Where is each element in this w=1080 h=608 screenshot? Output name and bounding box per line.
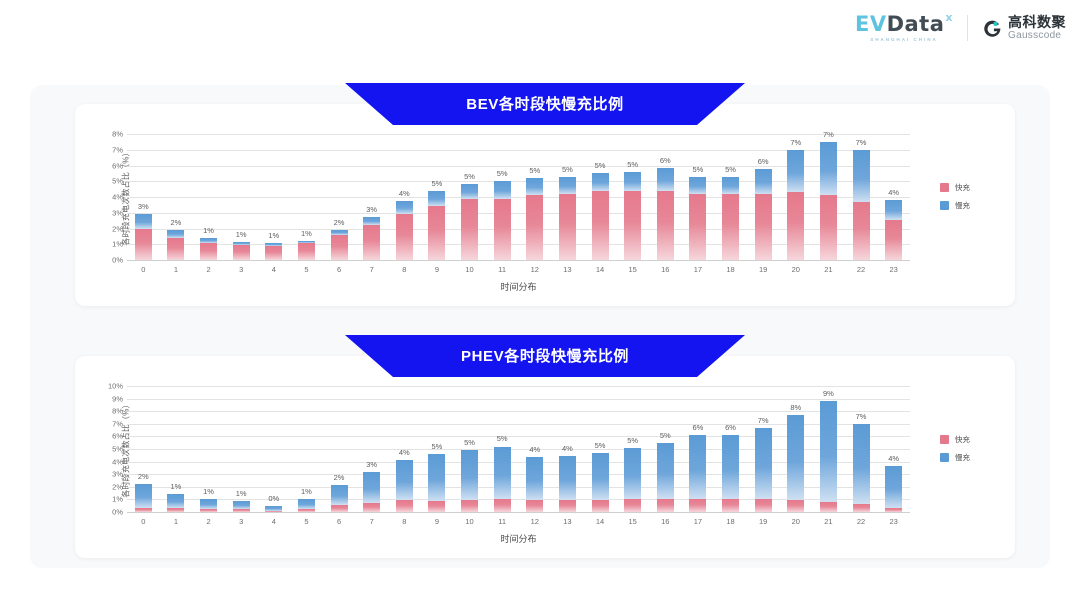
bar-segment-slow-charge [135, 214, 152, 229]
stacked-bar[interactable] [298, 499, 315, 512]
bar-segment-fast-charge [167, 508, 184, 512]
x-tick-label: 0 [127, 517, 160, 526]
bar-segment-slow-charge [657, 443, 674, 498]
x-tick-label: 14 [584, 265, 617, 274]
bar-segment-slow-charge [298, 499, 315, 508]
bar-segment-fast-charge [624, 499, 641, 512]
x-tick-label: 4 [258, 517, 291, 526]
bar-slot[interactable]: 1% [258, 134, 291, 260]
bar-value-label: 6% [660, 156, 671, 165]
y-tick-label: 10% [108, 382, 123, 390]
x-tick-label: 23 [877, 517, 910, 526]
bar-segment-fast-charge [396, 214, 413, 260]
x-axis-ticks: 01234567891011121314151617181920212223 [127, 265, 910, 274]
gausscode-cn-name: 高科数聚 [1008, 15, 1066, 29]
plot-area-phev: 各时段充电次数占比（%）0%1%2%3%4%5%6%7%8%9%10%2%1%1… [75, 356, 1015, 558]
legend-item[interactable]: 慢充 [940, 200, 970, 211]
bar-slot[interactable]: 5% [649, 386, 682, 512]
bar-value-label: 0% [268, 494, 279, 503]
bar-value-label: 5% [725, 165, 736, 174]
chart-legend: 快充慢充 [940, 182, 970, 211]
bar-segment-fast-charge [526, 195, 543, 260]
legend-color-swatch [940, 183, 949, 192]
bar-slot[interactable]: 5% [421, 134, 454, 260]
bar-segment-slow-charge [461, 450, 478, 500]
bar-value-label: 3% [366, 460, 377, 469]
bar-value-label: 1% [171, 482, 182, 491]
bar-segment-fast-charge [853, 202, 870, 260]
bar-value-label: 1% [301, 487, 312, 496]
x-axis-title: 时间分布 [127, 532, 910, 545]
stacked-bar[interactable] [461, 184, 478, 260]
bar-slot[interactable]: 6% [747, 134, 780, 260]
bar-slot[interactable]: 7% [812, 134, 845, 260]
stacked-bar[interactable] [559, 456, 576, 512]
stacked-bar[interactable] [592, 453, 609, 512]
bar-segment-fast-charge [494, 499, 511, 512]
x-axis-ticks: 01234567891011121314151617181920212223 [127, 517, 910, 526]
bar-segment-slow-charge [233, 501, 250, 509]
x-tick-label: 4 [258, 265, 291, 274]
bar-segment-fast-charge [331, 235, 348, 260]
stacked-bar[interactable] [885, 466, 902, 512]
bar-slot[interactable]: 5% [714, 134, 747, 260]
bar-segment-fast-charge [689, 499, 706, 512]
bar-segment-fast-charge [331, 505, 348, 512]
bar-segment-slow-charge [820, 401, 837, 502]
x-tick-label: 11 [486, 265, 519, 274]
x-tick-label: 16 [649, 517, 682, 526]
bar-segment-slow-charge [135, 484, 152, 507]
y-tick-label: 4% [112, 193, 123, 201]
logo-divider [967, 15, 968, 41]
bar-segment-fast-charge [722, 499, 739, 512]
bar-segment-fast-charge [363, 503, 380, 512]
x-tick-label: 1 [160, 517, 193, 526]
legend-label: 快充 [955, 434, 970, 445]
bar-slot[interactable]: 1% [225, 134, 258, 260]
y-tick-label: 1% [112, 241, 123, 249]
legend-label: 快充 [955, 182, 970, 193]
y-tick-label: 2% [112, 483, 123, 491]
x-tick-label: 7 [355, 265, 388, 274]
stacked-bar[interactable] [167, 494, 184, 512]
x-tick-label: 5 [290, 265, 323, 274]
x-tick-label: 20 [780, 265, 813, 274]
bar-slot[interactable]: 6% [714, 386, 747, 512]
bar-segment-slow-charge [624, 448, 641, 498]
bar-slot[interactable]: 2% [323, 134, 356, 260]
plot-area-bev: 各时段充电次数占比（%）0%1%2%3%4%5%6%7%8%3%2%1%1%1%… [75, 104, 1015, 306]
bar-slot[interactable]: 6% [682, 386, 715, 512]
bar-slot[interactable]: 5% [453, 386, 486, 512]
stacked-bar[interactable] [461, 450, 478, 512]
legend-item[interactable]: 快充 [940, 434, 970, 445]
bar-segment-slow-charge [363, 217, 380, 225]
bar-segment-fast-charge [787, 192, 804, 260]
x-tick-label: 10 [453, 517, 486, 526]
bar-slot[interactable]: 5% [486, 134, 519, 260]
bar-slot[interactable]: 5% [616, 134, 649, 260]
bar-segment-fast-charge [787, 500, 804, 512]
bar-value-label: 5% [595, 441, 606, 450]
content-panel: 各时段充电次数占比（%）0%1%2%3%4%5%6%7%8%3%2%1%1%1%… [30, 85, 1050, 568]
evdata-wordmark: EVDatax [855, 14, 953, 35]
stacked-bar[interactable] [396, 460, 413, 512]
bar-slot[interactable]: 5% [421, 386, 454, 512]
bar-segment-slow-charge [428, 454, 445, 501]
bar-segment-slow-charge [526, 178, 543, 195]
stacked-bar[interactable] [657, 168, 674, 260]
chart-title-ribbon-bev: BEV各时段快慢充比例 [345, 83, 745, 125]
legend-item[interactable]: 慢充 [940, 452, 970, 463]
bar-value-label: 2% [138, 472, 149, 481]
bar-slot[interactable]: 1% [290, 386, 323, 512]
bar-value-label: 5% [432, 179, 443, 188]
bar-segment-fast-charge [885, 508, 902, 512]
bar-slot[interactable]: 7% [845, 134, 878, 260]
stacked-bar[interactable] [363, 217, 380, 260]
x-tick-label: 3 [225, 265, 258, 274]
bar-slot[interactable]: 1% [160, 386, 193, 512]
bar-segment-slow-charge [853, 424, 870, 504]
bar-slot[interactable]: 5% [453, 134, 486, 260]
bar-segment-fast-charge [233, 245, 250, 260]
bar-segment-fast-charge [722, 194, 739, 260]
stacked-bar[interactable] [787, 415, 804, 512]
stacked-bar[interactable] [559, 177, 576, 260]
bar-slot[interactable]: 2% [323, 386, 356, 512]
bar-segment-fast-charge [592, 191, 609, 260]
bar-segment-slow-charge [689, 435, 706, 499]
x-tick-label: 18 [714, 517, 747, 526]
stacked-bar[interactable] [755, 428, 772, 512]
y-tick-label: 8% [112, 130, 123, 138]
bar-segment-slow-charge [559, 177, 576, 194]
x-axis-title: 时间分布 [127, 280, 910, 293]
stacked-bar[interactable] [657, 443, 674, 512]
bar-value-label: 2% [171, 218, 182, 227]
bar-segment-slow-charge [494, 447, 511, 500]
y-tick-label: 8% [112, 407, 123, 415]
bar-segment-slow-charge [526, 457, 543, 500]
bar-slot[interactable]: 3% [355, 134, 388, 260]
bar-slot[interactable]: 1% [192, 134, 225, 260]
legend-color-swatch [940, 435, 949, 444]
bar-value-label: 4% [399, 189, 410, 198]
stacked-bar[interactable] [135, 214, 152, 260]
bar-value-label: 5% [464, 438, 475, 447]
stacked-bar[interactable] [755, 169, 772, 260]
bar-value-label: 5% [529, 166, 540, 175]
bar-slot[interactable]: 1% [225, 386, 258, 512]
bar-slot[interactable]: 4% [388, 134, 421, 260]
bar-value-label: 5% [693, 165, 704, 174]
grid-line [127, 260, 910, 261]
x-tick-label: 19 [747, 517, 780, 526]
bar-value-label: 5% [464, 172, 475, 181]
bar-segment-slow-charge [820, 142, 837, 196]
x-tick-label: 1 [160, 265, 193, 274]
bar-value-label: 5% [627, 160, 638, 169]
gausscode-logo: 高科数聚 Gausscode [982, 15, 1066, 41]
bar-value-label: 4% [562, 444, 573, 453]
stacked-bar[interactable] [494, 181, 511, 260]
bar-slot[interactable]: 9% [812, 386, 845, 512]
chart-card-phev: 各时段充电次数占比（%）0%1%2%3%4%5%6%7%8%9%10%2%1%1… [75, 356, 1015, 558]
x-tick-label: 13 [551, 517, 584, 526]
stacked-bar[interactable] [853, 150, 870, 260]
bar-segment-fast-charge [461, 199, 478, 260]
bar-slot[interactable]: 5% [584, 134, 617, 260]
x-tick-label: 21 [812, 265, 845, 274]
bar-slot[interactable]: 8% [780, 386, 813, 512]
chart-card-bev: 各时段充电次数占比（%）0%1%2%3%4%5%6%7%8%3%2%1%1%1%… [75, 104, 1015, 306]
y-axis-ticks: 0%1%2%3%4%5%6%7%8% [97, 134, 123, 260]
bar-value-label: 4% [888, 454, 899, 463]
bar-segment-slow-charge [885, 200, 902, 220]
y-tick-label: 2% [112, 225, 123, 233]
bar-segment-slow-charge [755, 428, 772, 500]
bar-group: 3%2%1%1%1%1%2%3%4%5%5%5%5%5%5%5%6%5%5%6%… [127, 134, 910, 260]
bar-segment-slow-charge [167, 230, 184, 238]
bar-segment-slow-charge [331, 485, 348, 505]
stacked-bar[interactable] [363, 472, 380, 512]
x-tick-label: 16 [649, 265, 682, 274]
bar-slot[interactable]: 4% [388, 386, 421, 512]
bar-slot[interactable]: 1% [290, 134, 323, 260]
stacked-bar[interactable] [592, 173, 609, 260]
bar-slot[interactable]: 3% [127, 134, 160, 260]
bar-segment-fast-charge [494, 199, 511, 260]
gausscode-en-name: Gausscode [1008, 31, 1066, 41]
stacked-bar[interactable] [722, 177, 739, 260]
x-tick-label: 6 [323, 517, 356, 526]
stacked-bar[interactable] [689, 435, 706, 512]
bar-segment-fast-charge [755, 499, 772, 512]
bar-value-label: 1% [268, 231, 279, 240]
legend-item[interactable]: 快充 [940, 182, 970, 193]
x-tick-label: 14 [584, 517, 617, 526]
bar-segment-fast-charge [363, 225, 380, 260]
x-tick-label: 2 [192, 517, 225, 526]
gausscode-mark-icon [982, 18, 1003, 39]
y-tick-label: 1% [112, 496, 123, 504]
bar-segment-fast-charge [559, 194, 576, 260]
x-tick-label: 17 [682, 517, 715, 526]
bar-segment-slow-charge [885, 466, 902, 508]
x-tick-label: 13 [551, 265, 584, 274]
x-tick-label: 3 [225, 517, 258, 526]
y-tick-label: 4% [112, 458, 123, 466]
bar-segment-fast-charge [200, 243, 217, 260]
bar-segment-fast-charge [461, 500, 478, 512]
bar-segment-fast-charge [265, 511, 282, 513]
x-tick-label: 8 [388, 265, 421, 274]
bar-value-label: 7% [790, 138, 801, 147]
bar-slot[interactable]: 7% [780, 134, 813, 260]
x-tick-label: 6 [323, 265, 356, 274]
evdata-data-text: Data [887, 14, 945, 35]
stacked-bar[interactable] [233, 242, 250, 260]
stacked-bar[interactable] [787, 150, 804, 260]
bar-slot[interactable]: 6% [649, 134, 682, 260]
bar-slot[interactable]: 4% [519, 386, 552, 512]
bar-segment-slow-charge [363, 472, 380, 503]
bar-segment-fast-charge [135, 508, 152, 512]
bar-slot[interactable]: 2% [127, 386, 160, 512]
chart-title-phev: PHEV各时段快慢充比例 [461, 345, 629, 368]
bar-value-label: 5% [497, 169, 508, 178]
chart-block-phev: 各时段充电次数占比（%）0%1%2%3%4%5%6%7%8%9%10%2%1%1… [75, 356, 1015, 558]
stacked-bar[interactable] [233, 501, 250, 512]
evdata-superscript-x: x [945, 12, 953, 23]
bar-segment-slow-charge [559, 456, 576, 500]
stacked-bar[interactable] [820, 142, 837, 260]
bar-slot[interactable]: 1% [192, 386, 225, 512]
x-tick-label: 9 [421, 265, 454, 274]
bar-slot[interactable]: 5% [616, 386, 649, 512]
x-tick-label: 22 [845, 517, 878, 526]
bar-slot[interactable]: 5% [486, 386, 519, 512]
stacked-bar[interactable] [689, 177, 706, 260]
x-tick-label: 12 [519, 265, 552, 274]
stacked-bar[interactable] [135, 484, 152, 512]
bar-segment-fast-charge [853, 504, 870, 512]
bar-segment-fast-charge [298, 243, 315, 260]
bar-segment-slow-charge [396, 460, 413, 500]
bar-slot[interactable]: 7% [845, 386, 878, 512]
bar-segment-slow-charge [722, 177, 739, 194]
y-tick-label: 6% [112, 433, 123, 441]
bar-group: 2%1%1%1%0%1%2%3%4%5%5%5%4%4%5%5%5%6%6%7%… [127, 386, 910, 512]
bar-slot[interactable]: 2% [160, 134, 193, 260]
x-tick-label: 10 [453, 265, 486, 274]
y-tick-label: 3% [112, 209, 123, 217]
y-tick-label: 7% [112, 420, 123, 428]
x-tick-label: 23 [877, 265, 910, 274]
bar-value-label: 7% [823, 130, 834, 139]
legend-color-swatch [940, 453, 949, 462]
bar-slot[interactable]: 5% [519, 134, 552, 260]
bar-segment-slow-charge [428, 191, 445, 205]
y-axis-ticks: 0%1%2%3%4%5%6%7%8%9%10% [97, 386, 123, 512]
bar-segment-fast-charge [298, 509, 315, 512]
bar-value-label: 9% [823, 389, 834, 398]
bar-value-label: 3% [366, 205, 377, 214]
header-logo-group: EVDatax SHANGHAI CHINA 高科数聚 Gausscode [855, 14, 1066, 42]
bar-segment-fast-charge [689, 194, 706, 260]
bar-slot[interactable]: 4% [877, 386, 910, 512]
stacked-bar[interactable] [885, 200, 902, 260]
y-tick-label: 0% [112, 256, 123, 264]
bar-slot[interactable]: 5% [551, 134, 584, 260]
stacked-bar[interactable] [853, 424, 870, 512]
bar-value-label: 5% [660, 431, 671, 440]
bar-slot[interactable]: 5% [584, 386, 617, 512]
bar-slot[interactable]: 0% [258, 386, 291, 512]
stacked-bar[interactable] [428, 454, 445, 512]
stacked-bar[interactable] [331, 230, 348, 260]
bar-segment-fast-charge [428, 206, 445, 260]
bar-value-label: 5% [562, 165, 573, 174]
bar-segment-slow-charge [657, 168, 674, 191]
stacked-bar[interactable] [265, 506, 282, 512]
bar-slot[interactable]: 4% [551, 386, 584, 512]
stacked-bar[interactable] [494, 446, 511, 512]
stacked-bar[interactable] [624, 448, 641, 512]
x-tick-label: 8 [388, 517, 421, 526]
legend-color-swatch [940, 201, 949, 210]
bar-segment-fast-charge [167, 238, 184, 260]
evdata-subtitle: SHANGHAI CHINA [870, 37, 938, 42]
legend-label: 慢充 [955, 200, 970, 211]
bar-segment-slow-charge [853, 150, 870, 202]
y-tick-label: 0% [112, 508, 123, 516]
bar-value-label: 8% [790, 403, 801, 412]
y-tick-label: 6% [112, 162, 123, 170]
bar-segment-fast-charge [592, 500, 609, 512]
bar-segment-fast-charge [265, 246, 282, 260]
legend-label: 慢充 [955, 452, 970, 463]
stacked-bar[interactable] [526, 178, 543, 260]
evdata-logo: EVDatax SHANGHAI CHINA [855, 14, 953, 42]
bar-segment-slow-charge [461, 184, 478, 200]
x-tick-label: 9 [421, 517, 454, 526]
stacked-bar[interactable] [820, 401, 837, 512]
stacked-bar[interactable] [200, 238, 217, 260]
bar-slot[interactable]: 3% [355, 386, 388, 512]
bar-segment-slow-charge [396, 201, 413, 214]
bar-value-label: 7% [856, 138, 867, 147]
bar-value-label: 6% [758, 157, 769, 166]
stacked-bar[interactable] [331, 485, 348, 512]
y-tick-label: 5% [112, 178, 123, 186]
stacked-bar[interactable] [167, 230, 184, 260]
chart-title-ribbon-phev: PHEV各时段快慢充比例 [345, 335, 745, 377]
chart-title-bev: BEV各时段快慢充比例 [466, 93, 623, 116]
bar-value-label: 3% [138, 202, 149, 211]
stacked-bar[interactable] [624, 172, 641, 260]
bar-value-label: 4% [529, 445, 540, 454]
bar-slot[interactable]: 4% [877, 134, 910, 260]
slide-page: EVDatax SHANGHAI CHINA 高科数聚 Gausscode 各时… [0, 0, 1080, 608]
chart-block-bev: 各时段充电次数占比（%）0%1%2%3%4%5%6%7%8%3%2%1%1%1%… [75, 104, 1015, 306]
bar-slot[interactable]: 5% [682, 134, 715, 260]
bar-segment-fast-charge [820, 195, 837, 260]
bar-value-label: 1% [301, 229, 312, 238]
stacked-bar[interactable] [298, 241, 315, 260]
bar-slot[interactable]: 7% [747, 386, 780, 512]
x-tick-label: 7 [355, 517, 388, 526]
stacked-bar[interactable] [526, 457, 543, 512]
bar-segment-fast-charge [428, 501, 445, 512]
bar-value-label: 6% [725, 423, 736, 432]
stacked-bar[interactable] [265, 243, 282, 260]
grid-line [127, 512, 910, 513]
bar-segment-slow-charge [787, 415, 804, 500]
x-tick-label: 2 [192, 265, 225, 274]
stacked-bar[interactable] [428, 191, 445, 260]
bar-value-label: 7% [758, 416, 769, 425]
x-tick-label: 15 [616, 265, 649, 274]
y-tick-label: 7% [112, 146, 123, 154]
stacked-bar[interactable] [722, 435, 739, 512]
stacked-bar[interactable] [200, 499, 217, 512]
bar-segment-fast-charge [755, 194, 772, 260]
evdata-ev-text: EV [855, 14, 887, 35]
stacked-bar[interactable] [396, 201, 413, 260]
